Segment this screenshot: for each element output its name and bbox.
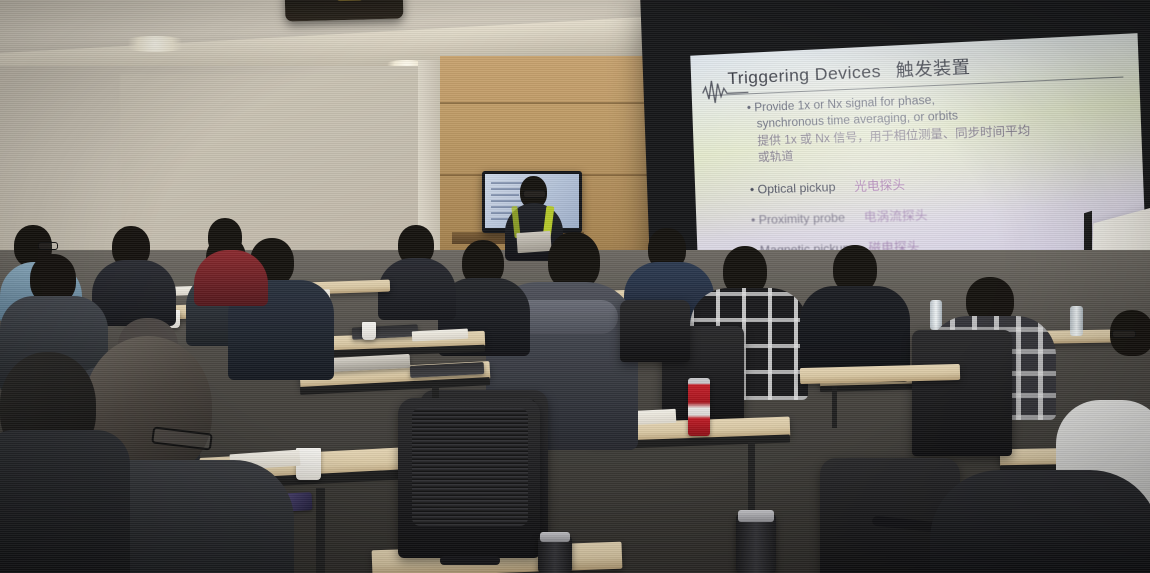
photo-scene: Triggering Devices触发装置 • Provide 1x or N…	[0, 0, 1150, 573]
red-beverage-can	[688, 378, 710, 436]
sub-bullet-proximity: • Proximity probe电涡流探头	[751, 200, 1127, 228]
sub-bullet-proximity-en: • Proximity probe	[751, 210, 845, 227]
ceiling-light	[118, 36, 192, 52]
sub-bullet-optical: • Optical pickup光电探头	[750, 168, 1126, 198]
attendee-glasses-icon	[38, 242, 58, 250]
thermos-cap	[540, 532, 570, 542]
water-bottle	[1070, 306, 1083, 336]
desk-leg	[832, 386, 837, 428]
slide-title: Triggering Devices触发装置	[727, 52, 971, 89]
black-thermos	[736, 514, 776, 573]
sub-bullet-optical-zh: 光电探头	[854, 177, 905, 193]
slide-title-zh: 触发装置	[895, 57, 970, 80]
foreground-attendee-torso	[0, 430, 130, 573]
sub-bullet-optical-en: • Optical pickup	[750, 179, 836, 196]
projector-lens-icon	[337, 0, 363, 1]
paper-cup	[362, 322, 376, 340]
chair-mesh-back	[412, 408, 528, 526]
slide-title-en: Triggering Devices	[727, 62, 881, 89]
attendee-torso-red	[194, 250, 268, 306]
sub-bullet-proximity-zh: 电涡流探头	[864, 208, 928, 224]
chair	[912, 330, 1012, 456]
presenter-handout	[516, 231, 551, 253]
attendee-glasses-icon	[1112, 330, 1136, 338]
foreground-attendee-torso	[930, 470, 1150, 573]
waveform-icon	[701, 75, 749, 107]
presenter-glasses-icon	[523, 190, 546, 198]
chair	[620, 300, 690, 362]
thermos-cap	[738, 510, 774, 522]
chair-base	[440, 556, 500, 565]
ceiling-projector	[285, 0, 404, 22]
desk-leg	[316, 488, 325, 573]
